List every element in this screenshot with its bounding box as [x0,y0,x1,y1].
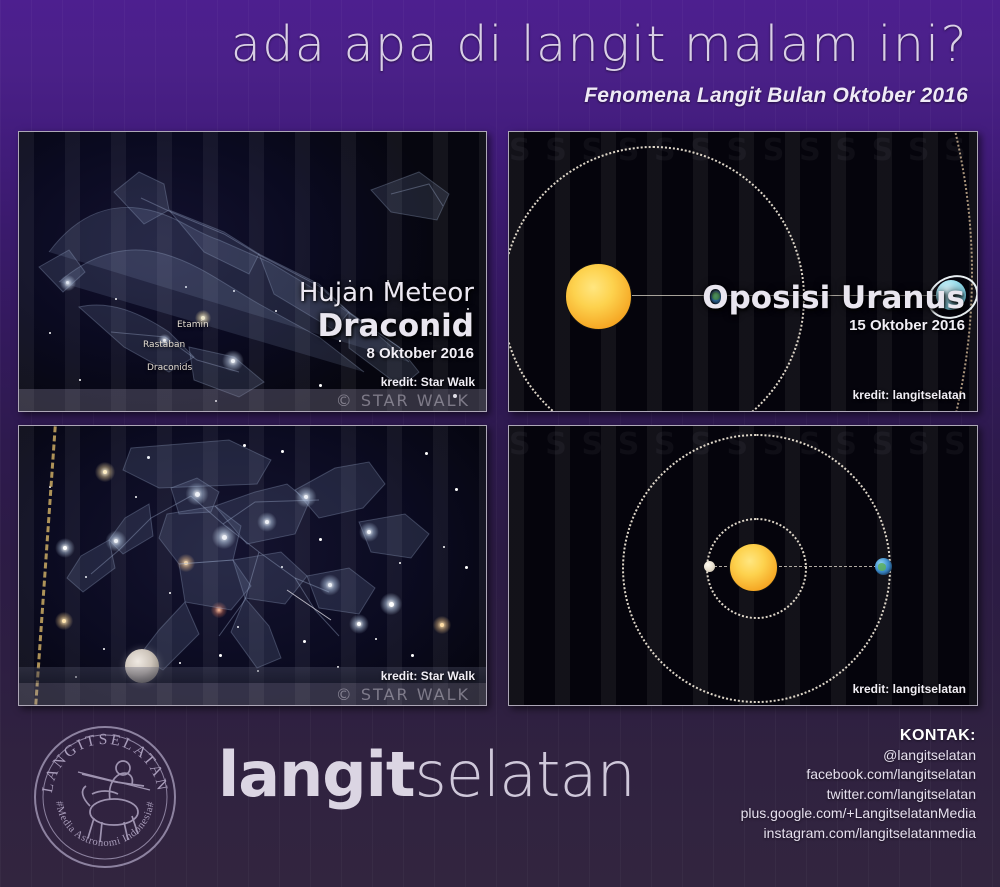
panel-credit: kredit: Star Walk [381,669,475,683]
page-title: ada apa di langit malam ini? [231,19,968,71]
contact-block: KONTAK: @langitselatan facebook.com/lang… [741,726,976,843]
panel-date: 8 Oktober 2016 [299,345,474,362]
footer: LANGITSELATAN #Media Astronomi Indonesia… [0,704,1000,887]
starfield-orion [19,426,486,705]
contact-twitter-handle[interactable]: @langitselatan [741,746,976,766]
starwalk-watermark: © STAR WALK [336,685,470,704]
wordmark[interactable]: langitselatan [218,744,635,806]
sun [729,543,778,592]
orion-figure [67,440,429,670]
svg-text:LANGITSELATAN: LANGITSELATAN [39,731,171,794]
panel-draconid[interactable]: Etamin Rastaban Draconids Nodus Secundus… [18,131,487,412]
panel-orionid[interactable]: Planet Nine Rigel Bellatrix LEPUS ORION … [18,425,487,706]
starwalk-watermark: © STAR WALK [336,391,470,410]
wordmark-light: selatan [415,738,635,811]
langitselatan-seal-icon: LANGITSELATAN #Media Astronomi Indonesia… [32,724,178,870]
panel-credit: kredit: langitselatan [853,682,966,696]
contact-instagram[interactable]: instagram.com/langitselatanmedia [741,824,976,844]
contact-facebook[interactable]: facebook.com/langitselatan [741,765,976,785]
panel-heading-draconid: Hujan Meteor Draconid 8 Oktober 2016 [299,278,474,362]
poster: ada apa di langit malam ini? Fenomena La… [0,0,1000,887]
contact-twitter[interactable]: twitter.com/langitselatan [741,785,976,805]
sky-label-draconids: Draconids [147,363,192,373]
starfield-draco [19,132,486,411]
wordmark-bold: langit [218,738,415,811]
contact-heading: KONTAK: [741,726,976,746]
sky-label-etamin: Etamin [177,320,209,330]
sun [565,263,632,330]
panel-name: Oposisi Uranus [702,280,965,316]
panel-credit: kredit: Star Walk [381,375,475,389]
panel-kicker: Hujan Meteor [299,278,474,308]
mercury [704,561,715,572]
panel-date: 15 Oktober 2016 [702,317,965,334]
panel-heading-uranus: Oposisi Uranus 15 Oktober 2016 [702,280,965,334]
logo-seal[interactable]: LANGITSELATAN #Media Astronomi Indonesia… [32,724,178,870]
earth [875,558,892,575]
panel-name: Draconid [299,308,474,344]
page-subtitle: Fenomena Langit Bulan Oktober 2016 [584,84,968,108]
seal-ring-top-text: LANGITSELATAN [39,731,171,794]
panel-merkurius[interactable]: SSSSSSSSSSSSSSSSSSSSSSSSSSSSSSSSSSSSSSSS… [508,425,978,706]
header: ada apa di langit malam ini? Fenomena La… [0,0,1000,122]
sky-label-rastaban: Rastaban [143,340,185,350]
panel-uranus[interactable]: SSSSSSSSSSSSSSSSSSSSSSSSSSSSSSSSSSSSSSSS… [508,131,978,412]
contact-googleplus[interactable]: plus.google.com/+LangitselatanMedia [741,804,976,824]
panel-credit: kredit: langitselatan [853,388,966,402]
